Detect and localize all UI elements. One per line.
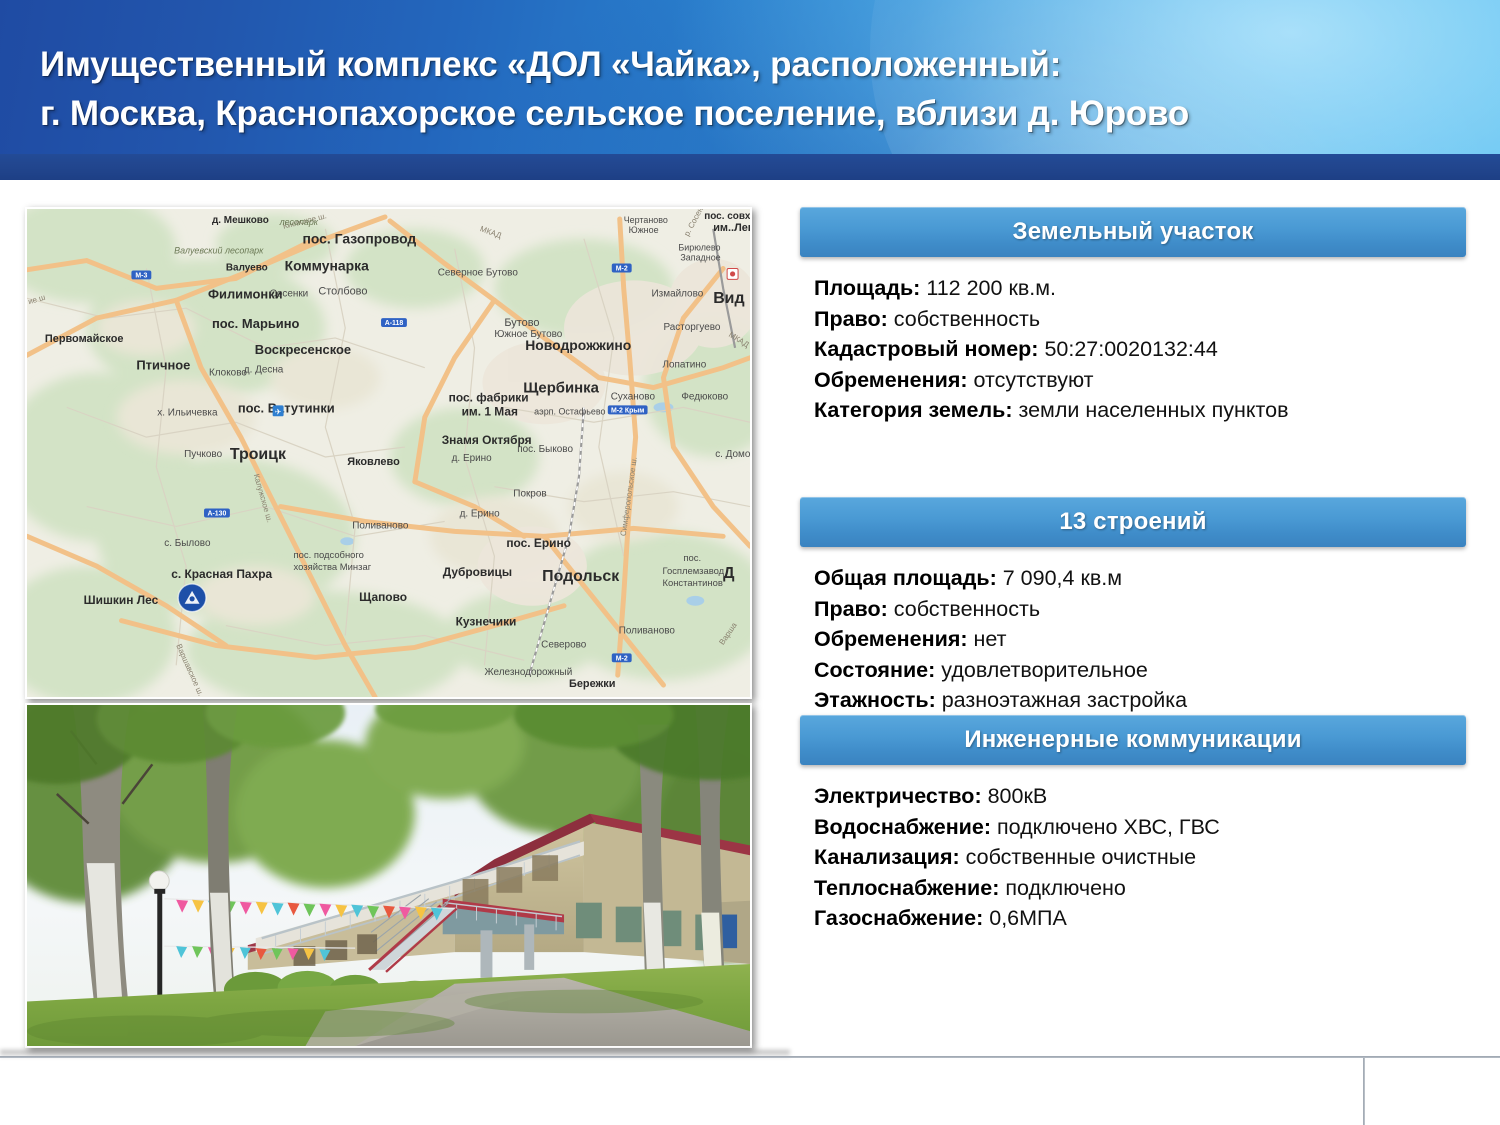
svg-text:с. Красная Пахра: с. Красная Пахра	[171, 567, 272, 581]
svg-text:М-2: М-2	[616, 266, 628, 273]
info-value: подключено	[1005, 876, 1126, 900]
svg-text:Вид: Вид	[713, 290, 744, 307]
slide-header: Имущественный комплекс «ДОЛ «Чайка», рас…	[0, 0, 1500, 180]
section-body-utilities: Электричество: 800кВ Водоснабжение: подк…	[800, 765, 1466, 934]
svg-text:Троицк: Троицк	[230, 446, 286, 463]
svg-text:Столбово: Столбово	[318, 285, 367, 297]
svg-text:Чертаново: Чертаново	[624, 215, 668, 225]
svg-text:Щербинка: Щербинка	[523, 381, 599, 397]
svg-text:Госплемзавод: Госплемзавод	[662, 565, 724, 576]
info-label: Канализация:	[814, 845, 960, 869]
info-row: Обременения: нет	[814, 624, 1466, 655]
section-title-buildings: 13 строений	[1059, 508, 1206, 536]
map-location-marker-icon	[178, 584, 206, 612]
svg-text:д. Ерино: д. Ерино	[452, 453, 493, 464]
svg-text:Первомайское: Первомайское	[45, 333, 124, 345]
svg-text:Щапово: Щапово	[359, 590, 407, 604]
info-label: Категория земель:	[814, 398, 1012, 422]
info-label: Газоснабжение:	[814, 906, 983, 930]
info-value: отсутствуют	[974, 368, 1094, 392]
info-row: Общая площадь: 7 090,4 кв.м	[814, 563, 1466, 594]
svg-text:Константинов: Константинов	[662, 577, 722, 588]
svg-text:✈: ✈	[275, 407, 282, 416]
svg-text:Птичное: Птичное	[136, 358, 190, 373]
svg-text:Валуевский лесопарк: Валуевский лесопарк	[174, 246, 264, 256]
info-value: собственность	[894, 597, 1040, 621]
svg-text:лесопарк: лесопарк	[279, 217, 319, 227]
info-row: Электричество: 800кВ	[814, 781, 1466, 812]
svg-text:х. Ильичевка: х. Ильичевка	[157, 407, 218, 418]
slide-root: Имущественный комплекс «ДОЛ «Чайка», рас…	[0, 0, 1500, 1125]
svg-text:Суханово: Суханово	[611, 391, 656, 402]
map-poi-rail-icon	[727, 269, 738, 280]
info-label: Обременения:	[814, 627, 968, 651]
info-label: Водоснабжение:	[814, 815, 991, 839]
svg-text:Поливаново: Поливаново	[619, 626, 676, 637]
svg-text:с. Домод: с. Домод	[715, 449, 750, 460]
info-value: 50:27:0020132:44	[1044, 337, 1217, 361]
svg-text:Кузнечики: Кузнечики	[456, 615, 517, 629]
page-title: Имущественный комплекс «ДОЛ «Чайка», рас…	[40, 40, 1460, 138]
svg-text:Северное Бутово: Северное Бутово	[438, 267, 519, 278]
header-bottom-band	[0, 154, 1500, 180]
info-value: 0,6МПА	[989, 906, 1067, 930]
svg-text:Покров: Покров	[513, 489, 546, 500]
svg-text:Клоково: Клоково	[209, 368, 247, 379]
info-row: Теплоснабжение: подключено	[814, 873, 1466, 904]
svg-text:Поливаново: Поливаново	[352, 520, 409, 531]
info-label: Этажность:	[814, 688, 936, 712]
svg-text:М-3: М-3	[135, 272, 147, 279]
footer-vertical-divider	[1363, 1058, 1365, 1125]
svg-text:аэрп. Остафьево: аэрп. Остафьево	[534, 406, 605, 416]
svg-text:д. Десна: д. Десна	[244, 365, 284, 376]
info-label: Площадь:	[814, 276, 920, 300]
info-label: Состояние:	[814, 658, 935, 682]
svg-text:Сосенки: Сосенки	[270, 288, 309, 299]
info-label: Теплоснабжение:	[814, 876, 999, 900]
svg-text:с. Былово: с. Былово	[164, 538, 211, 549]
svg-text:Расторгуево: Расторгуево	[663, 322, 720, 333]
section-header-utilities: Инженерные коммуникации	[800, 715, 1466, 765]
svg-text:пос. Газопровод: пос. Газопровод	[302, 231, 416, 247]
info-row: Обременения: отсутствуют	[814, 365, 1466, 396]
info-value: 7 090,4 кв.м	[1003, 566, 1122, 590]
svg-text:Северово: Северово	[541, 639, 587, 650]
info-value: 112 200 кв.м.	[926, 276, 1056, 300]
info-label: Обременения:	[814, 368, 968, 392]
info-value: подключено ХВС, ГВС	[997, 815, 1220, 839]
info-value: нет	[974, 627, 1007, 651]
section-header-buildings: 13 строений	[800, 497, 1466, 547]
section-buildings: 13 строений Общая площадь: 7 090,4 кв.м …	[800, 497, 1466, 716]
svg-text:пос. фабрики: пос. фабрики	[449, 390, 529, 404]
svg-text:Пучково: Пучково	[184, 449, 222, 460]
info-row: Категория земель: земли населенных пункт…	[814, 395, 1466, 426]
section-land-plot: Земельный участок Площадь: 112 200 кв.м.…	[800, 207, 1466, 426]
section-utilities: Инженерные коммуникации Электричество: 8…	[800, 715, 1466, 934]
section-title-land-plot: Земельный участок	[1012, 218, 1253, 246]
svg-text:Яковлево: Яковлево	[347, 456, 400, 468]
svg-text:М-2: М-2	[616, 655, 628, 662]
svg-text:им. 1 Мая: им. 1 Мая	[462, 404, 518, 418]
info-value: удовлетворительное	[941, 658, 1148, 682]
svg-text:пос. подсобного: пос. подсобного	[294, 549, 364, 560]
svg-text:хозяйства Минзаг: хозяйства Минзаг	[294, 561, 372, 572]
section-header-land-plot: Земельный участок	[800, 207, 1466, 257]
property-photo[interactable]	[25, 703, 752, 1048]
svg-text:им..Лен: им..Лен	[713, 222, 750, 234]
svg-text:Южное: Южное	[629, 225, 659, 235]
svg-text:д. Мешково: д. Мешково	[212, 215, 269, 226]
info-row: Право: собственность	[814, 304, 1466, 335]
info-row: Этажность: разноэтажная застройка	[814, 685, 1466, 716]
svg-text:Шишкин Лес: Шишкин Лес	[84, 593, 159, 607]
svg-text:Подольск: Подольск	[542, 568, 619, 585]
info-value: собственные очистные	[966, 845, 1196, 869]
svg-text:А-118: А-118	[385, 320, 404, 327]
info-value: собственность	[894, 307, 1040, 331]
info-row: Площадь: 112 200 кв.м.	[814, 273, 1466, 304]
info-label: Кадастровый номер:	[814, 337, 1038, 361]
svg-text:Федюково: Федюково	[681, 391, 728, 402]
info-row: Водоснабжение: подключено ХВС, ГВС	[814, 812, 1466, 843]
footer-horizontal-divider	[0, 1056, 1500, 1058]
svg-text:пос. Быково: пос. Быково	[517, 444, 573, 455]
svg-text:Дубровицы: Дубровицы	[443, 565, 512, 579]
info-row: Состояние: удовлетворительное	[814, 655, 1466, 686]
info-row: Газоснабжение: 0,6МПА	[814, 903, 1466, 934]
info-row: Право: собственность	[814, 594, 1466, 625]
location-map[interactable]: .mlbl { font-family:"Liberation Sans",sa…	[25, 207, 752, 699]
info-row: Кадастровый номер: 50:27:0020132:44	[814, 334, 1466, 365]
info-label: Общая площадь:	[814, 566, 997, 590]
svg-text:Железнодорожный: Железнодорожный	[484, 667, 572, 678]
svg-text:Лопатино: Лопатино	[662, 360, 706, 371]
section-body-land-plot: Площадь: 112 200 кв.м. Право: собственно…	[800, 257, 1466, 426]
svg-text:пос. Ерино: пос. Ерино	[506, 536, 571, 550]
info-label: Право:	[814, 307, 888, 331]
svg-text:Воскресенское: Воскресенское	[255, 342, 351, 357]
svg-text:Бутово: Бутово	[504, 317, 539, 329]
map-graphic: .mlbl { font-family:"Liberation Sans",sa…	[27, 209, 750, 697]
info-value: земли населенных пунктов	[1018, 398, 1288, 422]
svg-text:А-130: А-130	[207, 510, 226, 517]
svg-text:пос. Ватутинки: пос. Ватутинки	[238, 400, 335, 415]
info-value: разноэтажная застройка	[942, 688, 1187, 712]
svg-text:Бирюлево: Бирюлево	[678, 243, 720, 253]
svg-text:пос. Марьино: пос. Марьино	[212, 316, 300, 331]
svg-text:Измайлово: Измайлово	[652, 288, 704, 299]
svg-text:д. Ерино: д. Ерино	[460, 508, 501, 519]
property-photo-graphic	[27, 705, 750, 1046]
info-label: Право:	[814, 597, 888, 621]
svg-text:М-2 Крым: М-2 Крым	[611, 407, 644, 414]
info-row: Канализация: собственные очистные	[814, 842, 1466, 873]
info-label: Электричество:	[814, 784, 982, 808]
svg-text:Валуево: Валуево	[226, 263, 268, 274]
svg-text:Бережки: Бережки	[569, 678, 615, 690]
svg-text:Коммунарка: Коммунарка	[285, 258, 370, 274]
svg-text:Южное Бутово: Южное Бутово	[494, 329, 562, 340]
svg-text:Западное: Западное	[680, 253, 720, 263]
map-poi-airport-icon: ✈	[273, 405, 284, 416]
svg-text:пос. совх.: пос. совх.	[704, 211, 750, 222]
info-value: 800кВ	[988, 784, 1048, 808]
section-body-buildings: Общая площадь: 7 090,4 кв.м Право: собст…	[800, 547, 1466, 716]
svg-text:Д: Д	[723, 565, 735, 582]
svg-text:пос.: пос.	[683, 552, 701, 563]
section-title-utilities: Инженерные коммуникации	[964, 726, 1301, 754]
